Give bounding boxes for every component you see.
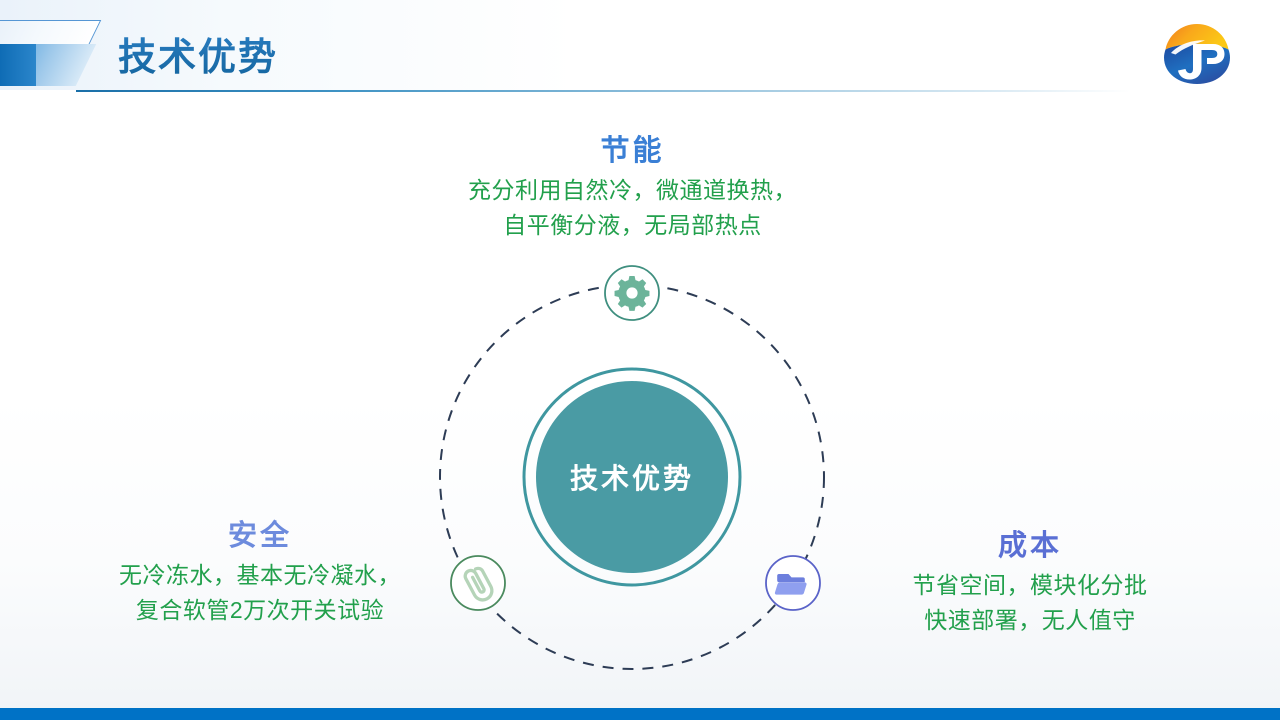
advantage-block-cost: 成本 节省空间，模块化分批 快速部署，无人值守: [800, 528, 1260, 638]
core-circle: [536, 381, 728, 573]
advantage-title-energy: 节能: [340, 133, 925, 169]
advantage-title-cost: 成本: [800, 528, 1260, 564]
technology-advantage-diagram: 技术优势: [410, 255, 855, 700]
jp-company-logo: [1163, 23, 1231, 85]
advantage-body-safety: 无冷冻水，基本无冷凝水， 复合软管2万次开关试验: [30, 558, 490, 628]
advantage-title-safety: 安全: [30, 518, 490, 554]
advantage-body-energy: 充分利用自然冷，微通道换热， 自平衡分液，无局部热点: [340, 173, 925, 243]
page-title: 技术优势: [118, 26, 278, 81]
advantage-block-safety: 安全 无冷冻水，基本无冷凝水， 复合软管2万次开关试验: [30, 518, 490, 628]
header-blue-wedge: [0, 44, 36, 86]
header-divider-line: [76, 90, 1130, 92]
gear-icon: [615, 276, 650, 311]
footer-accent-bar: [0, 708, 1280, 720]
slide-canvas: 技术优势: [0, 0, 1280, 720]
advantage-body-cost: 节省空间，模块化分批 快速部署，无人值守: [800, 568, 1260, 638]
advantage-block-energy: 节能 充分利用自然冷，微通道换热， 自平衡分液，无局部热点: [340, 133, 925, 243]
node-gear: [605, 266, 659, 320]
slide-header: 技术优势: [0, 0, 1280, 96]
